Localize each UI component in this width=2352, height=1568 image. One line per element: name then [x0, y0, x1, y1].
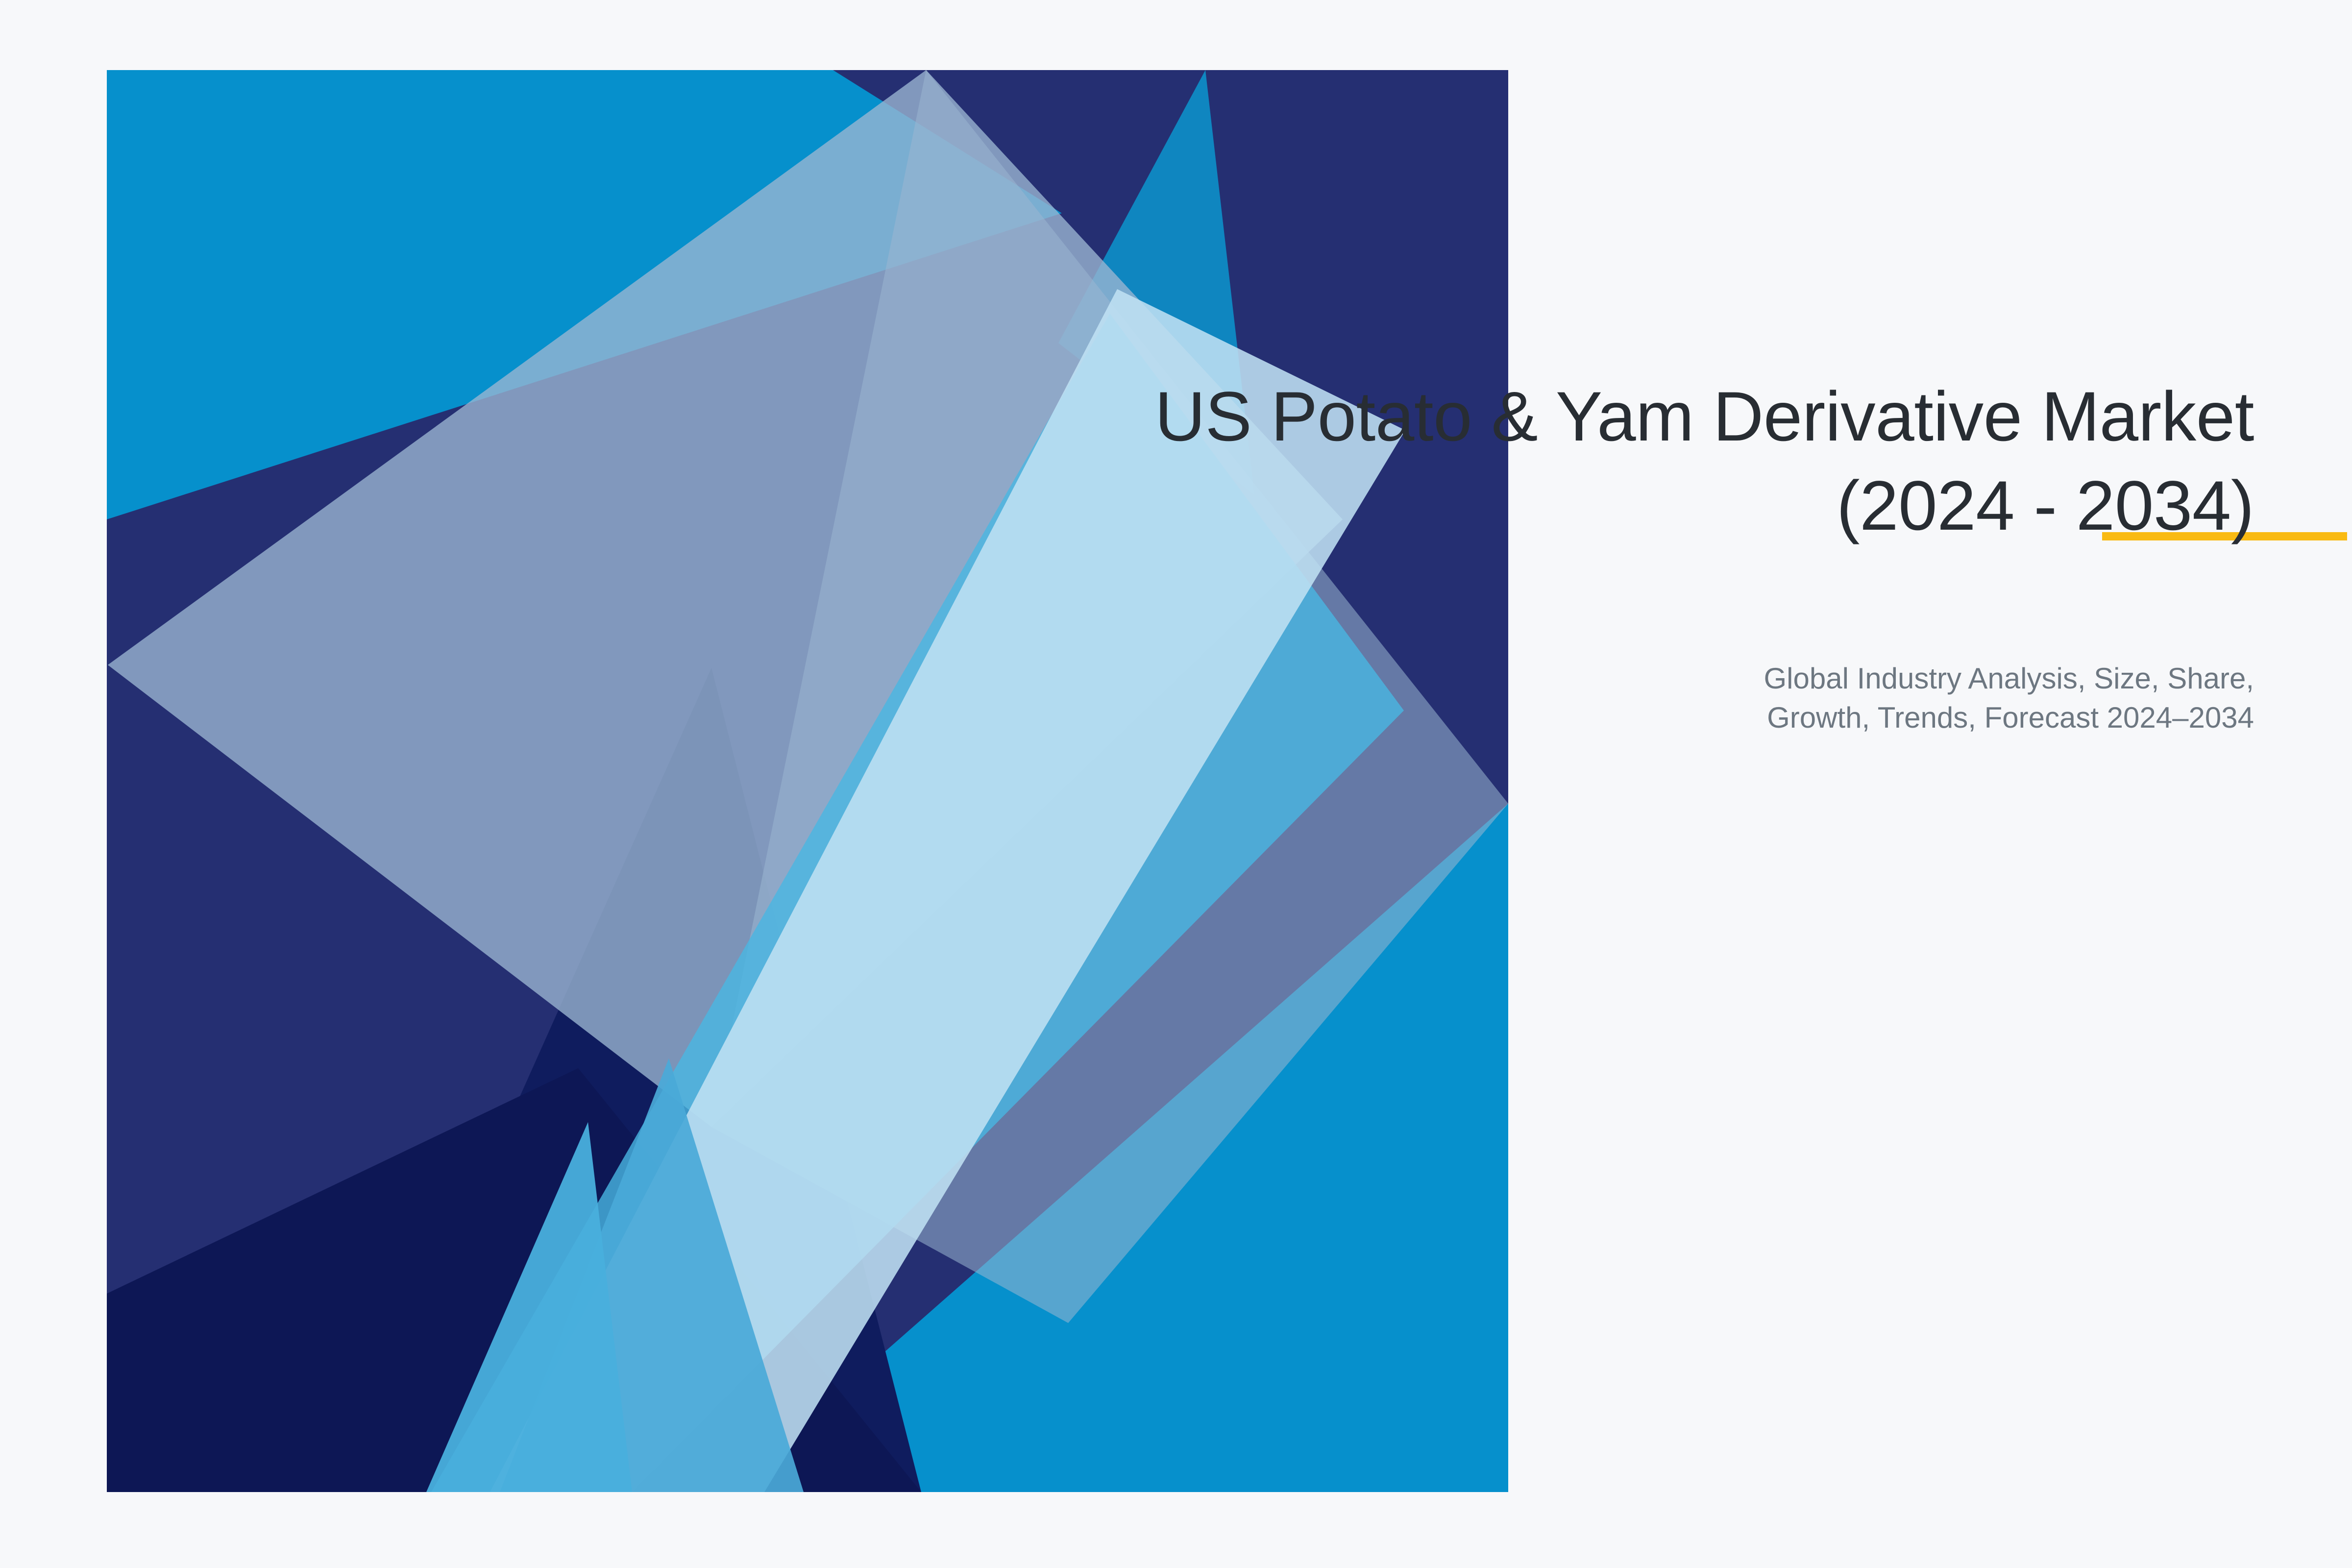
page-title: US Potato & Yam Derivative Market (2024 … [686, 372, 2254, 550]
decorative-geometric-artwork [0, 0, 2352, 1568]
report-cover-page: US Potato & Yam Derivative Market (2024 … [0, 0, 2352, 1568]
page-subtitle: Global Industry Analysis, Size, Share, G… [686, 659, 2254, 737]
cover-text-block: US Potato & Yam Derivative Market (2024 … [686, 372, 2254, 550]
